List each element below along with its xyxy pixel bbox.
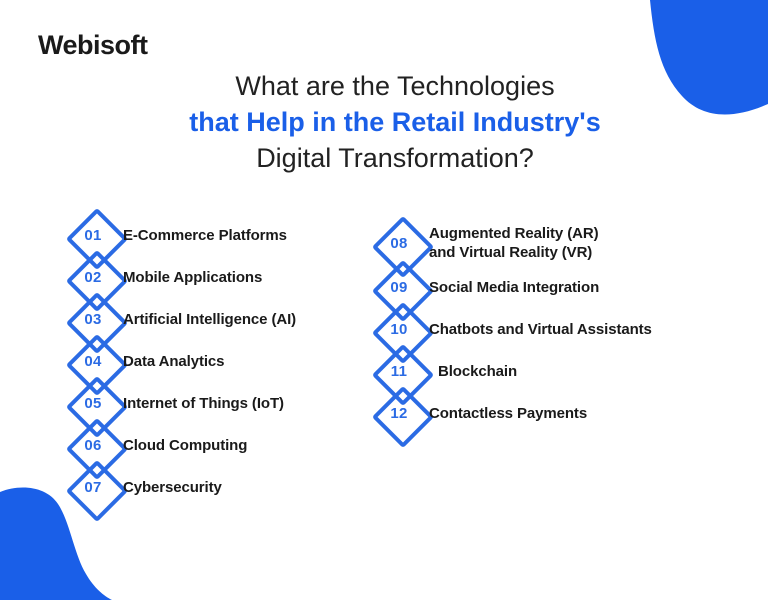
page-title: What are the Technologies that Help in t… — [150, 68, 640, 176]
item-label: Cybersecurity — [123, 460, 222, 514]
infographic-canvas: Webisoft What are the Technologies that … — [0, 0, 768, 600]
brand-logo: Webisoft — [38, 30, 148, 61]
item-label-line-1: Augmented Reality (AR) — [429, 224, 598, 243]
diamond-badge-07: 07 — [66, 460, 120, 514]
title-line-3: Digital Transformation? — [150, 140, 640, 176]
item-number: 07 — [66, 460, 120, 514]
item-label: Augmented Reality (AR) and Virtual Reali… — [429, 216, 598, 262]
item-label: Contactless Payments — [429, 386, 587, 440]
title-line-1: What are the Technologies — [150, 68, 640, 104]
item-number: 12 — [372, 386, 426, 440]
title-line-2: that Help in the Retail Industry's — [150, 104, 640, 140]
decorative-blob-top-right — [620, 0, 768, 140]
diamond-badge-12: 12 — [372, 386, 426, 440]
